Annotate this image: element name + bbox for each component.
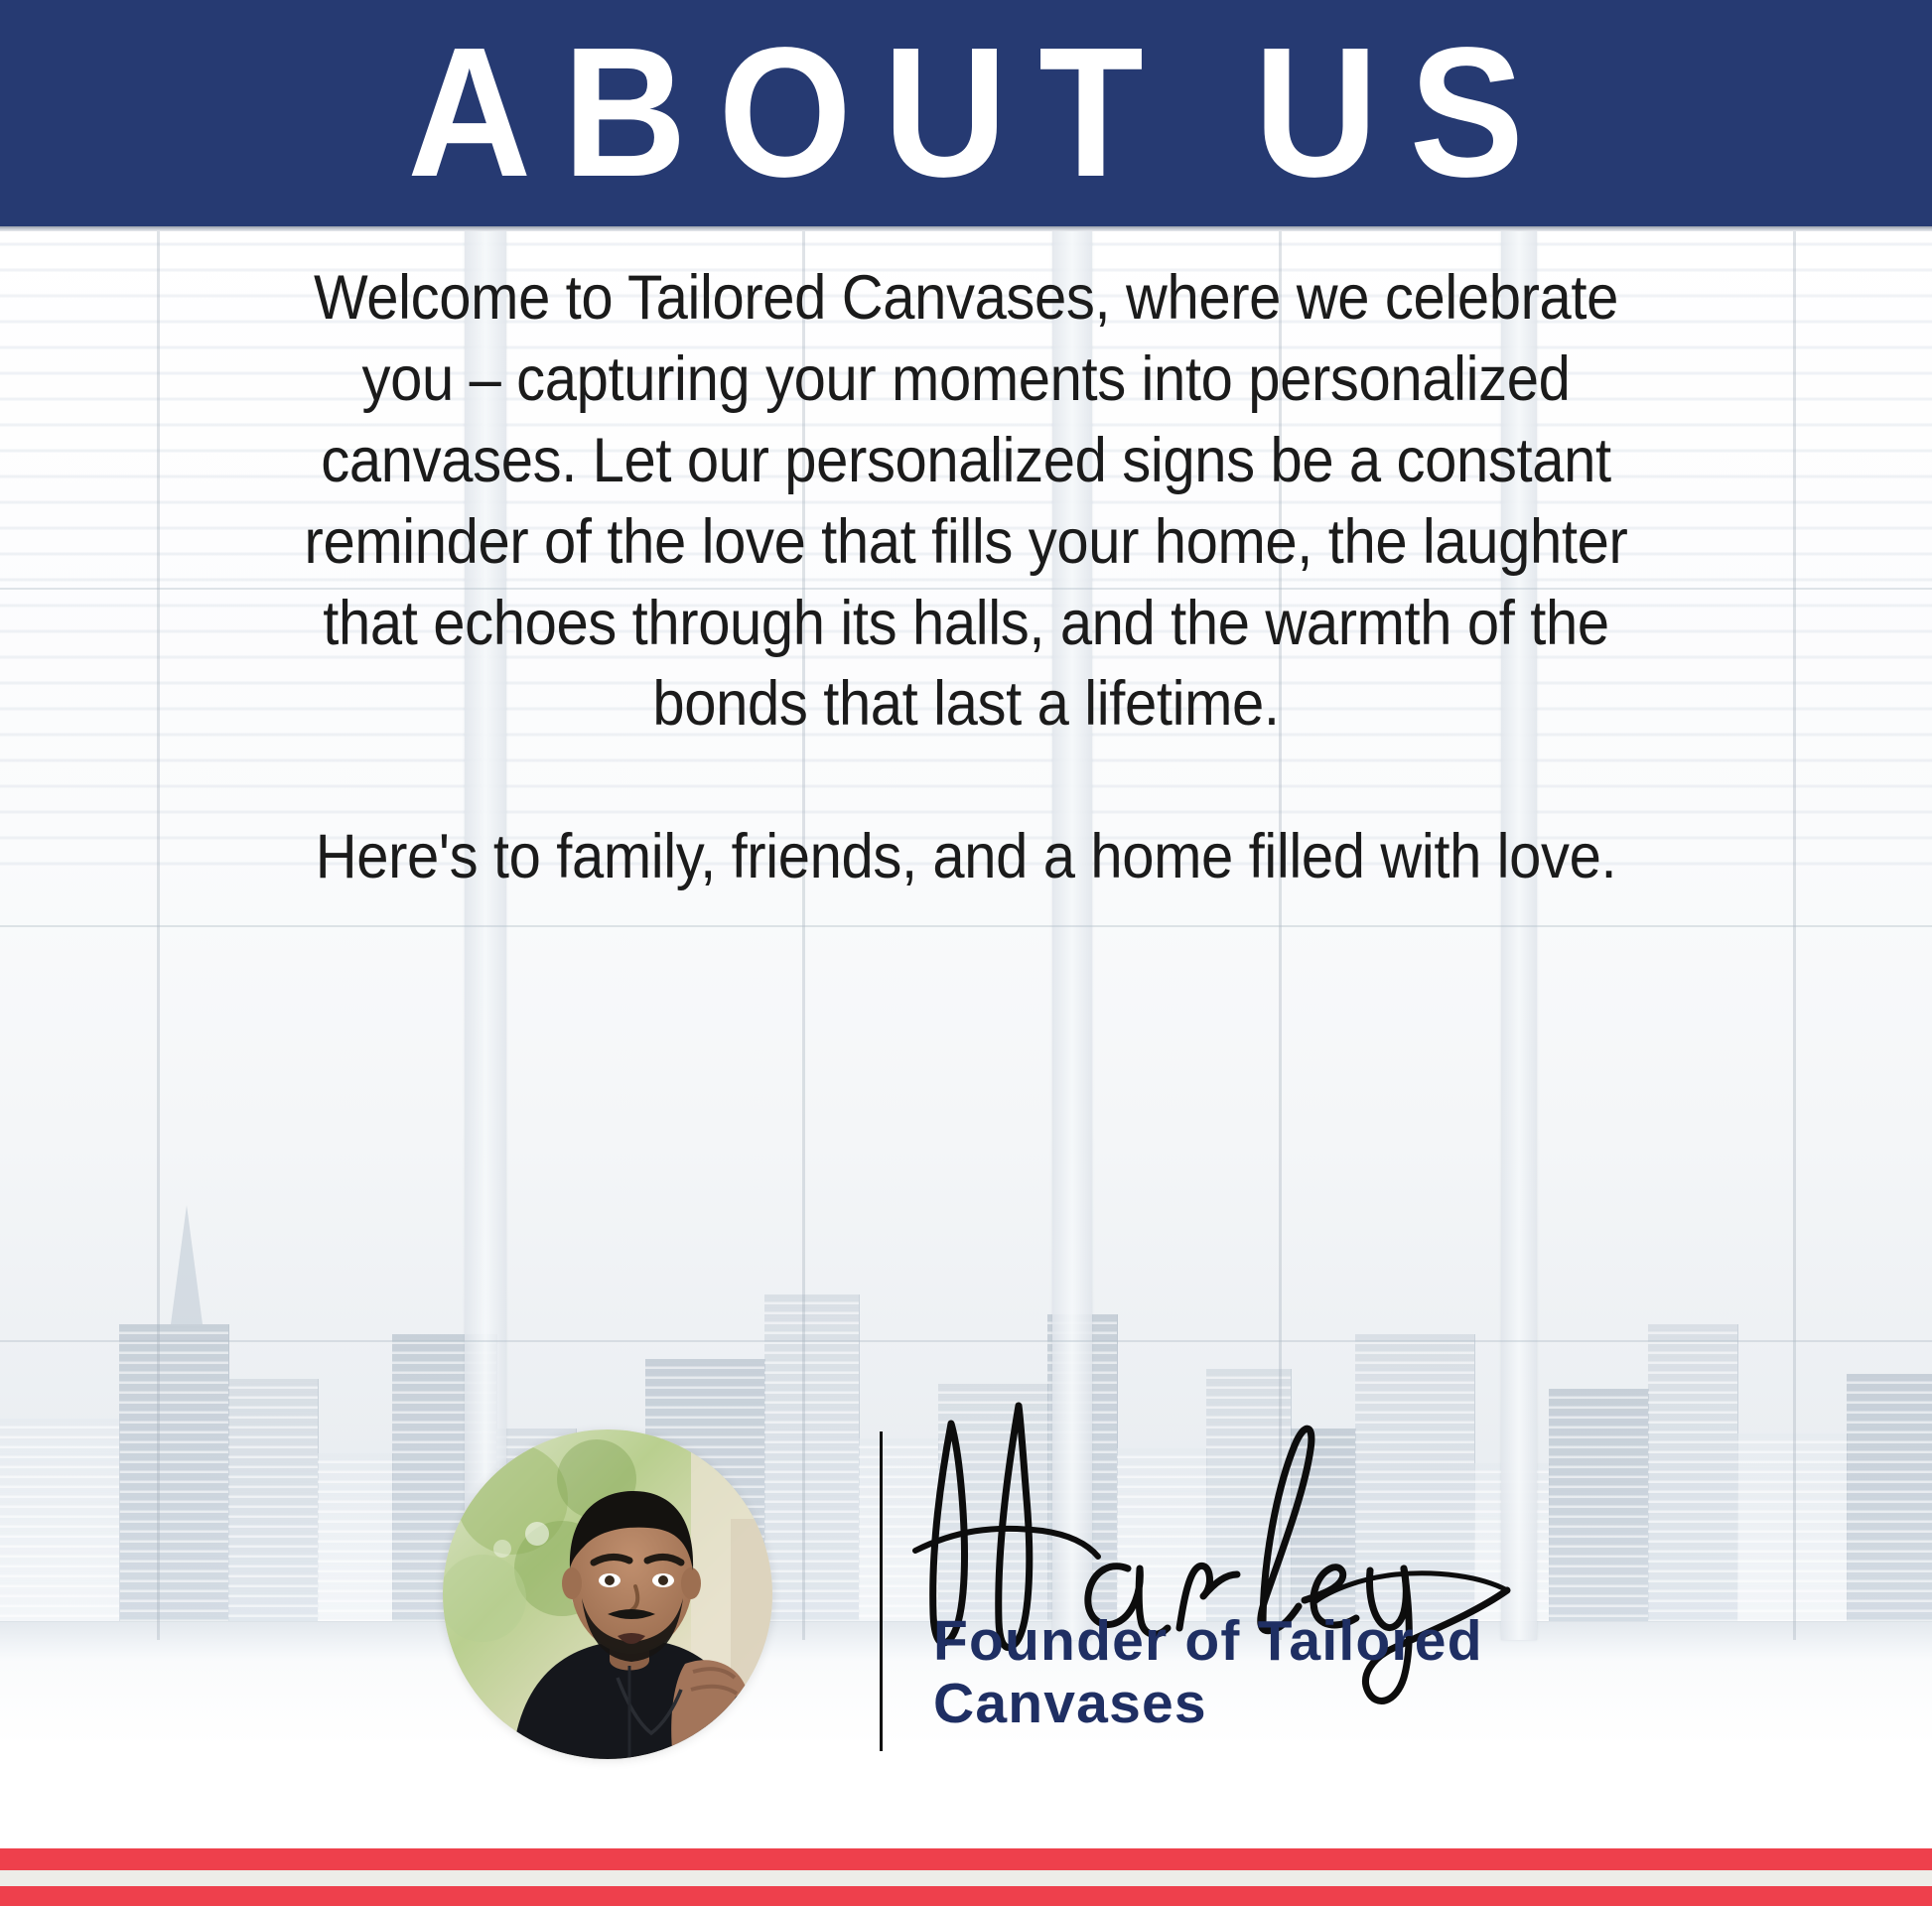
about-us-content: Welcome to Tailored Canvases, where we c…	[0, 258, 1932, 898]
paragraph-spacer	[208, 746, 1724, 817]
founder-title-line-2: Canvases	[933, 1673, 1628, 1735]
founder-title-line-1: Founder of Tailored	[933, 1610, 1628, 1673]
banner-underline	[0, 226, 1932, 231]
signature-divider	[880, 1431, 883, 1751]
founder-portrait-illustration	[443, 1429, 772, 1759]
avatar	[443, 1429, 772, 1759]
page-header-banner: ABOUT US	[0, 0, 1932, 226]
about-paragraph-1: Welcome to Tailored Canvases, where we c…	[269, 258, 1663, 746]
about-paragraph-2: Here's to family, friends, and a home fi…	[269, 817, 1663, 898]
footer-stripe-gap	[0, 1870, 1932, 1886]
footer-stripe-bottom	[0, 1886, 1932, 1906]
founder-signature-block: Founder of Tailored Canvases	[0, 1390, 1932, 1807]
page-title: ABOUT US	[376, 26, 1556, 202]
founder-title: Founder of Tailored Canvases	[933, 1610, 1628, 1734]
footer-stripe-top	[0, 1848, 1932, 1870]
about-us-page: ABOUT US Welcome to Tailored Canvases, w…	[0, 0, 1932, 1906]
